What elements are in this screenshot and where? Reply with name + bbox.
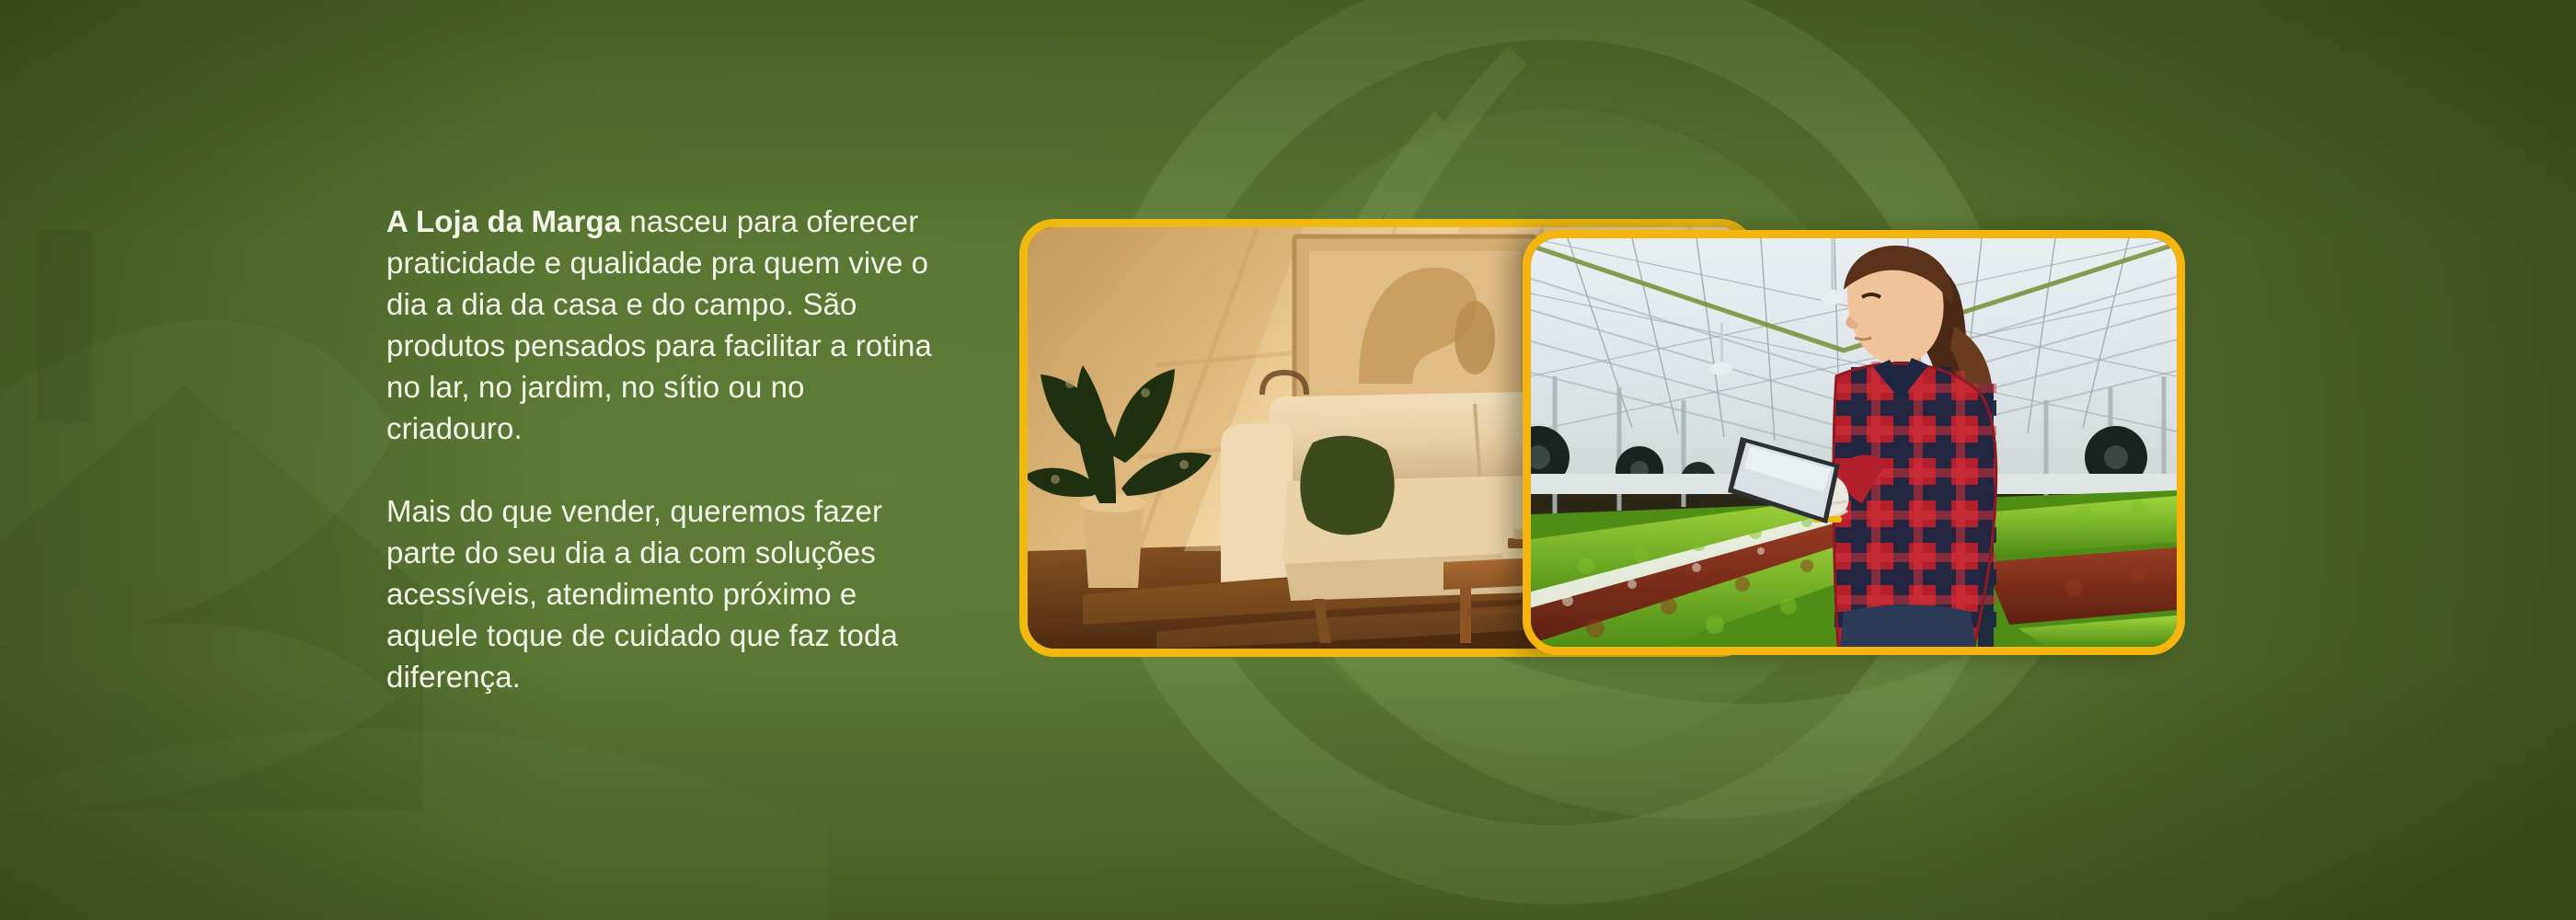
wall-art bbox=[1294, 236, 1535, 411]
greenhouse-photo bbox=[1531, 238, 2177, 647]
greenhouse-photo-card[interactable] bbox=[1523, 230, 2185, 655]
photo-gallery bbox=[0, 0, 2576, 920]
about-section: A Loja da Marga nasceu para oferecer pra… bbox=[0, 0, 2576, 920]
